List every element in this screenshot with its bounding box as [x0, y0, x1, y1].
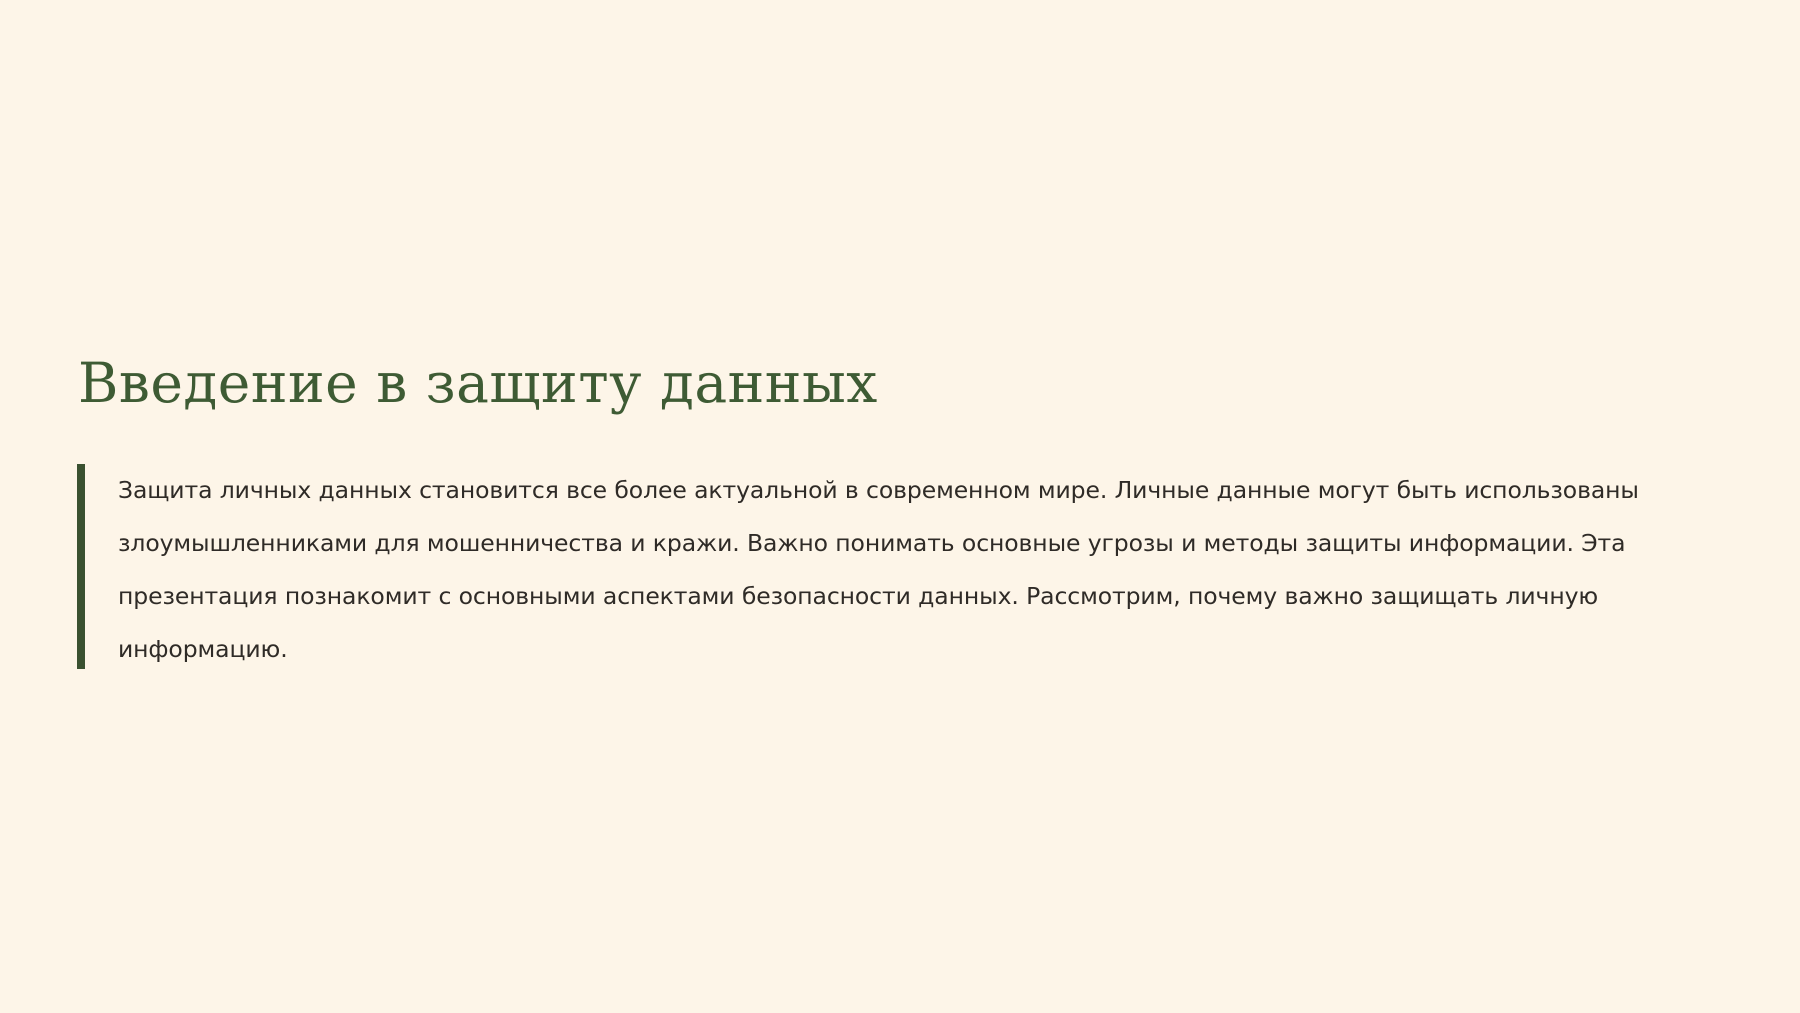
- slide-canvas: Введение в защиту данных Защита личных д…: [0, 0, 1800, 1013]
- slide-content: Введение в защиту данных Защита личных д…: [76, 350, 1716, 676]
- accent-bar: [77, 464, 85, 669]
- body-paragraph: Защита личных данных становится все боле…: [118, 464, 1676, 676]
- page-title: Введение в защиту данных: [76, 350, 1716, 416]
- body-block: Защита личных данных становится все боле…: [76, 464, 1716, 676]
